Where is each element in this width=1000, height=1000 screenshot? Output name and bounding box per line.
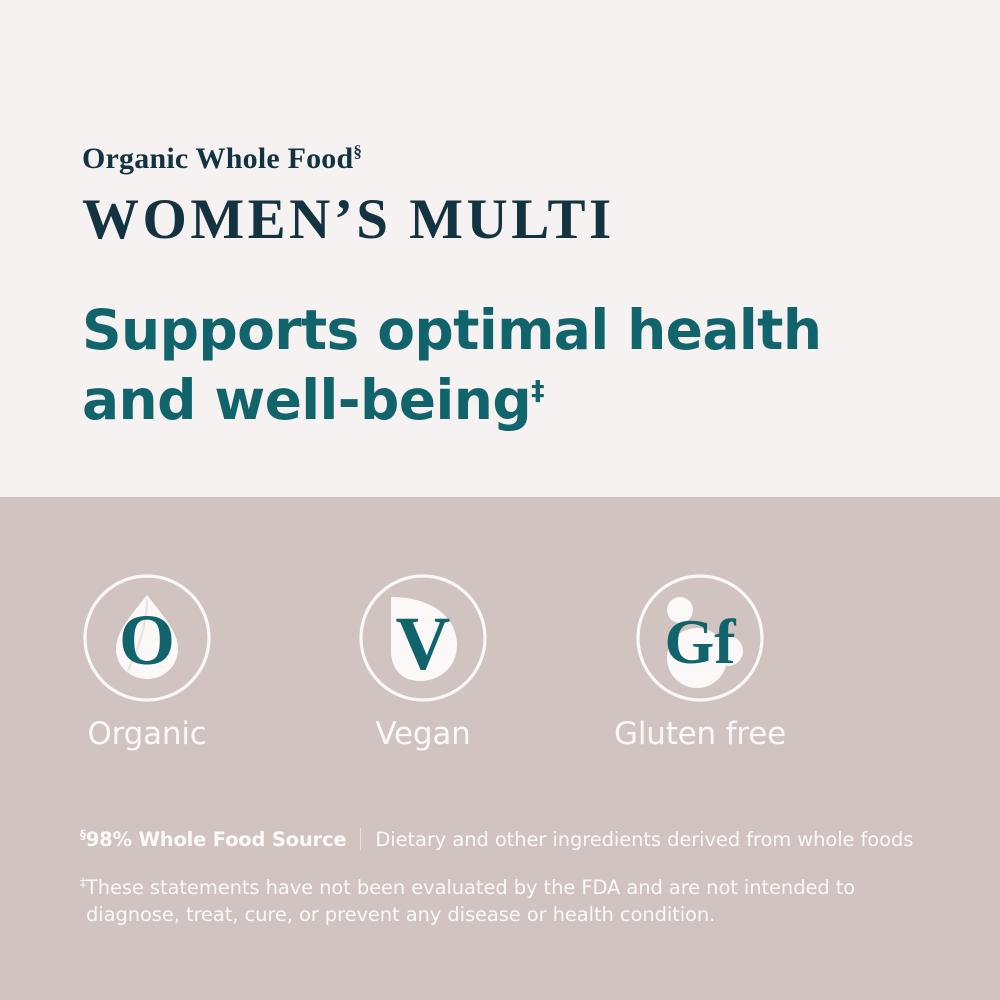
vegan-leaf-icon: V <box>358 573 488 703</box>
organic-leaf-icon: O <box>82 573 212 703</box>
gluten-free-grain-icon: Gf <box>635 573 765 703</box>
footnote-divider <box>360 828 361 850</box>
product-claim-line1: Supports optimal health <box>82 298 821 362</box>
footnotes: §98% Whole Food Source Dietary and other… <box>80 824 960 929</box>
product-claim: Supports optimal health and well-being‡ <box>82 295 882 436</box>
footnote-source: §98% Whole Food Source Dietary and other… <box>80 824 960 850</box>
footnote-fda-line2: diagnose, treat, cure, or prevent any di… <box>80 903 715 926</box>
certifications-section: O Organic V Vegan <box>0 497 1000 1000</box>
product-claim-marker: ‡ <box>531 376 545 407</box>
product-eyebrow: Organic Whole Food§ <box>82 142 362 176</box>
product-claim-line2: and well-being <box>82 368 531 432</box>
badge-vegan-label: Vegan <box>323 716 523 752</box>
svg-text:O: O <box>119 600 175 680</box>
product-info-panel: Organic Whole Food§ WOMEN’S MULTI Suppor… <box>0 0 1000 1000</box>
footnote-fda: ‡These statements have not been evaluate… <box>80 874 960 929</box>
footnote-fda-line1: These statements have not been evaluated… <box>86 876 855 899</box>
product-eyebrow-text: Organic Whole Food <box>82 142 353 175</box>
svg-text:Gf: Gf <box>664 606 736 677</box>
badge-vegan: V Vegan <box>323 573 523 752</box>
page-title: WOMEN’S MULTI <box>82 190 615 250</box>
badge-organic-label: Organic <box>47 716 247 752</box>
badge-gluten-free-label: Gluten free <box>600 716 800 752</box>
certification-badges: O Organic V Vegan <box>0 573 1000 763</box>
footnote-source-detail: Dietary and other ingredients derived fr… <box>375 830 913 850</box>
footnote-source-strong-text: 98% Whole Food Source <box>86 828 347 851</box>
footnote-source-strong: §98% Whole Food Source <box>80 830 346 850</box>
svg-text:V: V <box>396 602 451 686</box>
header-section: Organic Whole Food§ WOMEN’S MULTI Suppor… <box>0 0 1000 497</box>
badge-organic: O Organic <box>47 573 247 752</box>
product-eyebrow-marker: § <box>353 142 362 161</box>
badge-gluten-free: Gf Gluten free <box>600 573 800 752</box>
